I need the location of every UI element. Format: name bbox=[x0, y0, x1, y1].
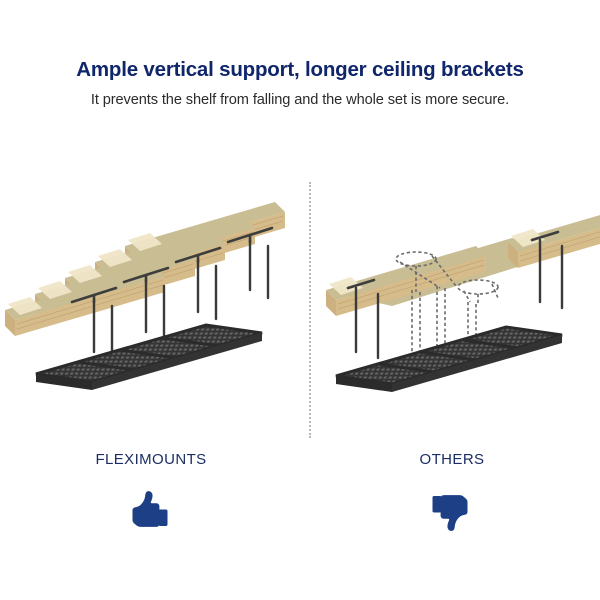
illustration-fleximounts bbox=[0, 180, 300, 430]
illustration-others bbox=[300, 180, 600, 430]
header-block: Ample vertical support, longer ceiling b… bbox=[0, 0, 600, 108]
page-title: Ample vertical support, longer ceiling b… bbox=[0, 0, 600, 82]
brand-label-others: OTHERS bbox=[300, 452, 600, 467]
brand-label-fleximounts: FLEXIMOUNTS bbox=[0, 452, 300, 467]
thumbs-up-icon bbox=[127, 489, 173, 533]
comparison-left-footer: FLEXIMOUNTS bbox=[0, 452, 300, 533]
comparison-right-footer: OTHERS bbox=[300, 452, 600, 533]
thumbs-down-icon bbox=[427, 489, 473, 533]
page-subtitle: It prevents the shelf from falling and t… bbox=[0, 82, 600, 109]
